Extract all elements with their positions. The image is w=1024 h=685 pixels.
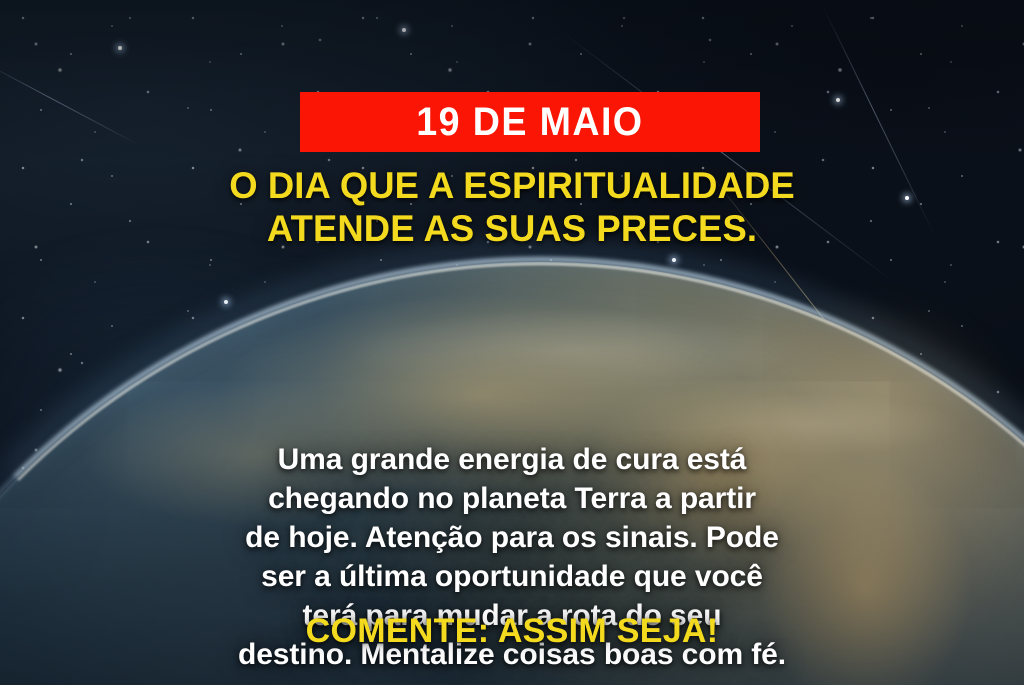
- poster-content: 19 DE MAIO O DIA QUE A ESPIRITUALIDADE A…: [0, 0, 1024, 685]
- poster-canvas: 19 DE MAIO O DIA QUE A ESPIRITUALIDADE A…: [0, 0, 1024, 685]
- headline: O DIA QUE A ESPIRITUALIDADE ATENDE AS SU…: [8, 164, 1017, 251]
- date-banner-label: 19 DE MAIO: [416, 102, 643, 142]
- date-banner: 19 DE MAIO: [300, 92, 760, 152]
- call-to-action-text: COMENTE: ASSIM SEJA!: [0, 613, 1024, 650]
